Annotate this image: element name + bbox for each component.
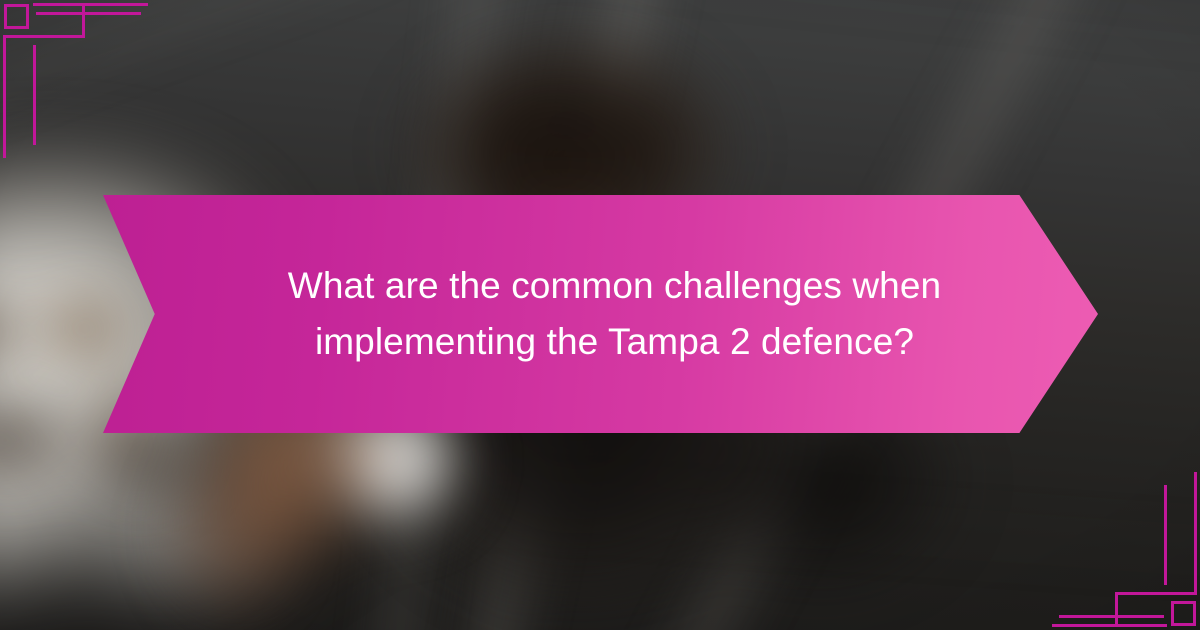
corner-square-icon xyxy=(1171,601,1196,626)
corner-square-icon xyxy=(4,4,29,29)
corner-line-vertical-2 xyxy=(33,45,36,145)
question-text: What are the common challenges when impl… xyxy=(245,258,985,370)
corner-line-vertical-2 xyxy=(1164,485,1167,585)
corner-elbow-vertical xyxy=(1115,592,1118,627)
corner-elbow-vertical xyxy=(82,3,85,38)
corner-elbow-horizontal xyxy=(1115,592,1197,595)
corner-elbow-horizontal xyxy=(3,35,85,38)
question-banner: What are the common challenges when impl… xyxy=(103,195,1098,433)
question-card: What are the common challenges when impl… xyxy=(0,0,1200,630)
corner-line-vertical-1 xyxy=(1194,472,1197,592)
corner-line-horizontal-2 xyxy=(36,12,141,15)
corner-line-horizontal-2 xyxy=(1059,615,1164,618)
corner-line-horizontal-1 xyxy=(1052,624,1167,627)
corner-line-vertical-1 xyxy=(3,38,6,158)
corner-line-horizontal-1 xyxy=(33,3,148,6)
